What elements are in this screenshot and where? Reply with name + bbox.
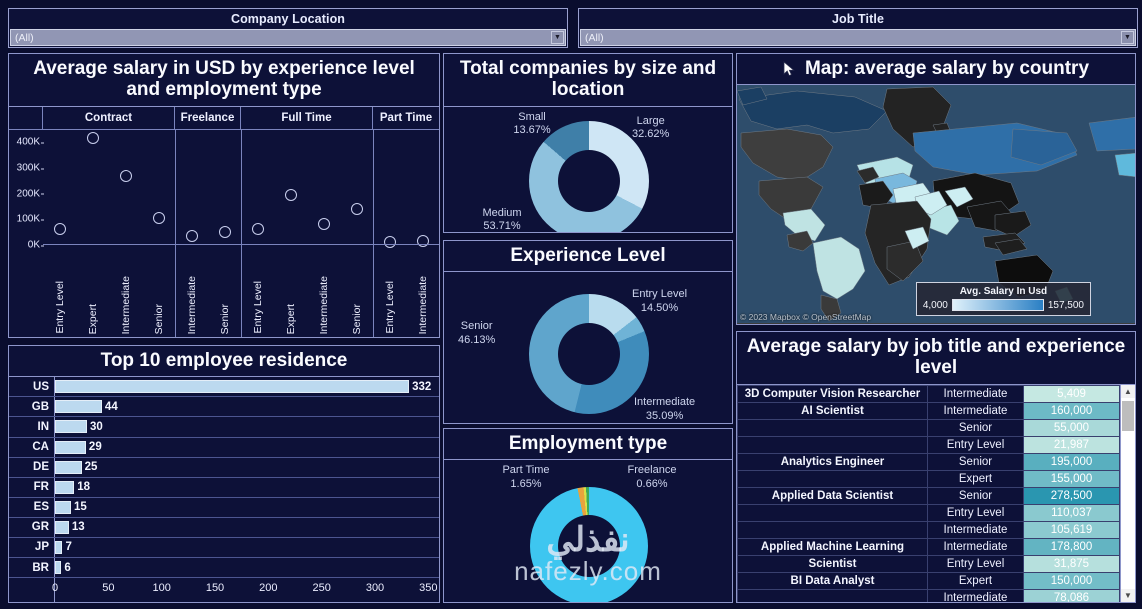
- scatter-xlabel: Entry Level: [54, 281, 66, 334]
- bar-track: 29: [55, 438, 439, 457]
- donut-label-group: Large32.62%: [632, 115, 669, 143]
- bar-xtick: 350: [419, 582, 437, 594]
- donut-slice-value: 13.67%: [513, 124, 550, 138]
- scrollbar-thumb[interactable]: [1122, 401, 1134, 431]
- donut-slice-label: Intermediate: [634, 396, 695, 410]
- bar-title: Top 10 employee residence: [9, 346, 439, 377]
- bar-row[interactable]: US332: [9, 377, 439, 397]
- bar-category-label: CA: [9, 438, 55, 457]
- bar-fill[interactable]: [55, 561, 61, 574]
- donut-hole: [558, 323, 620, 385]
- emp-title: Employment type: [444, 429, 732, 460]
- table-cell-experience-level: Entry Level: [928, 555, 1024, 572]
- table-cell-experience-level: Intermediate: [928, 385, 1024, 402]
- bar-track: 18: [55, 478, 439, 497]
- table-cell-salary: 55,000: [1024, 419, 1120, 436]
- scatter-ytick: 200K: [17, 188, 40, 199]
- donut-slice-label: Freelance: [628, 464, 677, 478]
- filter-company-location-dropdown[interactable]: (All) ▼: [10, 29, 566, 46]
- table-cell-experience-level: Expert: [928, 572, 1024, 589]
- bar-value-label: 18: [77, 481, 90, 493]
- scatter-label-divider: [175, 245, 176, 337]
- table-cell-experience-level: Intermediate: [928, 521, 1024, 538]
- table-row[interactable]: Entry Level21,987: [738, 436, 1120, 453]
- scatter-xlabel: Expert: [285, 304, 297, 334]
- scatter-point[interactable]: [351, 203, 363, 215]
- table-row[interactable]: Applied Data ScientistSenior278,500: [738, 487, 1120, 504]
- table-cell-experience-level: Entry Level: [928, 436, 1024, 453]
- bar-value-label: 13: [72, 521, 85, 533]
- donut-label-group: Freelance0.66%: [628, 464, 677, 492]
- bar-x-axis: 050100150200250300350: [9, 578, 439, 602]
- bar-xtick: 200: [259, 582, 277, 594]
- scatter-label-divider: [373, 245, 374, 337]
- donut-slice-value: 14.50%: [632, 302, 687, 316]
- bar-value-label: 29: [89, 441, 102, 453]
- bar-category-label: ES: [9, 498, 55, 517]
- panel-salary-table: Average salary by job title and experien…: [736, 331, 1136, 603]
- size-title: Total companies by size and location: [444, 54, 732, 107]
- bar-fill[interactable]: [55, 461, 82, 474]
- bar-fill[interactable]: [55, 521, 69, 534]
- table-cell-job-title: AI Scientist: [738, 402, 928, 419]
- donut-hole: [558, 150, 620, 212]
- scatter-point[interactable]: [153, 212, 165, 224]
- salary-table: 3D Computer Vision ResearcherIntermediat…: [737, 385, 1120, 602]
- panel-top-10-residence: Top 10 employee residence US332GB44IN30C…: [8, 345, 440, 603]
- filter-job-title-value: (All): [581, 32, 604, 44]
- donut-hole: [558, 515, 620, 577]
- bar-category-label: US: [9, 377, 55, 396]
- bar-rows: US332GB44IN30CA29DE25FR18ES15GR13JP7BR6: [9, 377, 439, 578]
- panel-avg-salary-scatter: Average salary in USD by experience leve…: [8, 53, 440, 338]
- scatter-point[interactable]: [252, 223, 264, 235]
- map-legend-max: 157,500: [1048, 300, 1084, 311]
- bar-value-label: 15: [74, 501, 87, 513]
- bar-value-label: 6: [64, 562, 70, 574]
- table-cell-salary: 178,800: [1024, 538, 1120, 555]
- table-cell-experience-level: Entry Level: [928, 504, 1024, 521]
- bar-axis-pad: [9, 578, 55, 602]
- bar-category-label: FR: [9, 478, 55, 497]
- scatter-xlabel: Senior: [153, 304, 165, 334]
- bar-row[interactable]: DE25: [9, 458, 439, 478]
- table-row[interactable]: Entry Level110,037: [738, 504, 1120, 521]
- scatter-point[interactable]: [285, 189, 297, 201]
- scatter-label-divider: [241, 245, 242, 337]
- scatter-plot[interactable]: ContractFreelanceFull TimePart Time0K100…: [9, 107, 439, 337]
- scatter-group-full-time: Full Time: [241, 107, 373, 129]
- scatter-xlabel: Senior: [219, 304, 231, 334]
- scatter-xlabel: Senior: [351, 304, 363, 334]
- scatter-x-labels: Entry LevelExpertIntermediateSeniorInter…: [43, 245, 439, 337]
- bar-fill[interactable]: [55, 501, 71, 514]
- bar-track: 7: [55, 538, 439, 557]
- donut-slice-label: Part Time: [502, 464, 549, 478]
- scatter-group-header: ContractFreelanceFull TimePart Time: [9, 107, 439, 129]
- bar-fill[interactable]: [55, 400, 102, 413]
- bar-xtick: 0: [52, 582, 58, 594]
- scatter-group-divider: [241, 130, 242, 245]
- donut-label-group: Entry Level14.50%: [632, 288, 687, 316]
- table-scrollbar[interactable]: ▲ ▼: [1120, 385, 1135, 602]
- donut-label-group: Part Time1.65%: [502, 464, 549, 492]
- table-cell-job-title: [738, 419, 928, 436]
- scatter-ytick: 400K: [17, 137, 40, 148]
- table-cell-job-title: [738, 504, 928, 521]
- table-cell-salary: 195,000: [1024, 453, 1120, 470]
- donut-slice-value: 0.66%: [628, 478, 677, 492]
- map-body[interactable]: © 2023 Mapbox © OpenStreetMap Avg. Salar…: [737, 85, 1135, 324]
- filter-company-location-title: Company Location: [9, 9, 567, 29]
- emp-body[interactable]: Part Time1.65%Freelance0.66%Full Time96.…: [444, 460, 732, 602]
- filter-job-title-dropdown[interactable]: (All) ▼: [580, 29, 1136, 46]
- bar-row[interactable]: ES15: [9, 498, 439, 518]
- bar-fill[interactable]: [55, 481, 74, 494]
- bar-track: 25: [55, 458, 439, 477]
- table-cell-salary: 278,500: [1024, 487, 1120, 504]
- table-cell-salary: 5,409: [1024, 385, 1120, 402]
- bar-fill[interactable]: [55, 441, 86, 454]
- bar-xtick: 150: [206, 582, 224, 594]
- scatter-title: Average salary in USD by experience leve…: [9, 54, 439, 107]
- table-row[interactable]: Senior55,000: [738, 419, 1120, 436]
- table-cell-experience-level: Intermediate: [928, 538, 1024, 555]
- donut-slice-label: Medium: [482, 207, 521, 221]
- bar-value-label: 25: [85, 461, 98, 473]
- bar-xtick: 100: [152, 582, 170, 594]
- scatter-point[interactable]: [186, 230, 198, 242]
- scatter-body[interactable]: ContractFreelanceFull TimePart Time0K100…: [9, 107, 439, 337]
- bar-category-label: DE: [9, 458, 55, 477]
- bar-category-label: GB: [9, 397, 55, 416]
- table-row[interactable]: Analytics EngineerSenior195,000: [738, 453, 1120, 470]
- table-title: Average salary by job title and experien…: [737, 332, 1135, 385]
- table-cell-salary: 78,086: [1024, 589, 1120, 602]
- scatter-xlabel: Intermediate: [186, 276, 198, 334]
- table-cell-experience-level: Senior: [928, 419, 1024, 436]
- scatter-group-divider: [373, 130, 374, 245]
- table-row[interactable]: BI Data AnalystExpert150,000: [738, 572, 1120, 589]
- table-cell-job-title: [738, 470, 928, 487]
- table-cell-salary: 31,875: [1024, 555, 1120, 572]
- scatter-point[interactable]: [87, 132, 99, 144]
- bar-track: 15: [55, 498, 439, 517]
- scatter-group-divider: [175, 130, 176, 245]
- donut-slice-label: Small: [513, 111, 550, 125]
- scatter-xlabel: Expert: [87, 304, 99, 334]
- map-attribution: © 2023 Mapbox © OpenStreetMap: [740, 312, 871, 322]
- table-cell-job-title: Analytics Engineer: [738, 453, 928, 470]
- table-cell-salary: 105,619: [1024, 521, 1120, 538]
- donut-slice-value: 1.65%: [502, 478, 549, 492]
- bar-xtick: 250: [312, 582, 330, 594]
- bar-row[interactable]: GB44: [9, 397, 439, 417]
- donut-slice-value: 35.09%: [634, 410, 695, 423]
- panel-companies-by-size: Total companies by size and location Lar…: [443, 53, 733, 233]
- map-canvas[interactable]: © 2023 Mapbox © OpenStreetMap Avg. Salar…: [737, 85, 1135, 324]
- scatter-point[interactable]: [120, 170, 132, 182]
- bar-value-label: 44: [105, 401, 118, 413]
- bar-row[interactable]: CA29: [9, 438, 439, 458]
- filter-bar: Company Location (All) ▼ Job Title (All)…: [8, 8, 1138, 48]
- exp-title: Experience Level: [444, 241, 732, 272]
- map-legend-min: 4,000: [923, 300, 948, 311]
- filter-company-location-value: (All): [11, 32, 34, 44]
- table-row[interactable]: ScientistEntry Level31,875: [738, 555, 1120, 572]
- table-scroll-area[interactable]: 3D Computer Vision ResearcherIntermediat…: [737, 385, 1120, 602]
- table-cell-experience-level: Intermediate: [928, 589, 1024, 602]
- table-cell-experience-level: Senior: [928, 453, 1024, 470]
- bar-track: 44: [55, 397, 439, 416]
- table-cell-salary: 110,037: [1024, 504, 1120, 521]
- scatter-point[interactable]: [219, 226, 231, 238]
- scatter-group-freelance: Freelance: [175, 107, 241, 129]
- chevron-down-icon[interactable]: ▼: [1121, 31, 1134, 44]
- donut-label-group: Intermediate35.09%: [634, 396, 695, 423]
- table-cell-job-title: [738, 436, 928, 453]
- bar-axis-line: 050100150200250300350: [55, 578, 439, 602]
- map-title: Map: average salary by country: [805, 58, 1089, 79]
- scatter-xlabel: Intermediate: [417, 276, 429, 334]
- bar-fill[interactable]: [55, 420, 87, 433]
- scroll-up-icon[interactable]: ▲: [1121, 385, 1135, 398]
- cursor-arrow-icon: [783, 61, 795, 77]
- map-legend-scale: 4,000 157,500: [923, 299, 1084, 311]
- bar-track: 332: [55, 377, 439, 396]
- bar-value-label: 7: [65, 541, 71, 553]
- map-legend-gradient: [952, 299, 1044, 311]
- table-row[interactable]: Intermediate78,086: [738, 589, 1120, 602]
- panel-experience-level: Experience Level Entry Level14.50%Interm…: [443, 240, 733, 424]
- bar-row[interactable]: JP7: [9, 538, 439, 558]
- dashboard-root: Company Location (All) ▼ Job Title (All)…: [0, 0, 1142, 609]
- table-cell-job-title: [738, 589, 928, 602]
- table-cell-experience-level: Senior: [928, 487, 1024, 504]
- donut-companies-by-size[interactable]: Large32.62%Medium53.71%Small13.67%: [444, 107, 732, 232]
- exp-body[interactable]: Entry Level14.50%Intermediate35.09%Senio…: [444, 272, 732, 423]
- scatter-point[interactable]: [318, 218, 330, 230]
- donut-slice-label: Large: [632, 115, 669, 129]
- donut-employment-type[interactable]: Part Time1.65%Freelance0.66%Full Time96.…: [444, 460, 732, 602]
- scatter-group-contract: Contract: [43, 107, 175, 129]
- table-cell-experience-level: Intermediate: [928, 402, 1024, 419]
- table-cell-salary: 21,987: [1024, 436, 1120, 453]
- scatter-point[interactable]: [54, 223, 66, 235]
- donut-slice-value: 53.71%: [482, 220, 521, 232]
- scatter-ytick: 100K: [17, 214, 40, 225]
- donut-slice-value: 32.62%: [632, 128, 669, 142]
- bar-xtick: 50: [102, 582, 114, 594]
- table-row[interactable]: Applied Machine LearningIntermediate178,…: [738, 538, 1120, 555]
- bar-fill[interactable]: [55, 541, 62, 554]
- bar-fill[interactable]: [55, 380, 409, 393]
- scatter-xlabel: Intermediate: [120, 276, 132, 334]
- bar-row[interactable]: FR18: [9, 478, 439, 498]
- bar-category-label: JP: [9, 538, 55, 557]
- scatter-xlabel: Intermediate: [318, 276, 330, 334]
- bar-body[interactable]: US332GB44IN30CA29DE25FR18ES15GR13JP7BR60…: [9, 377, 439, 602]
- table-cell-job-title: [738, 521, 928, 538]
- table-body[interactable]: 3D Computer Vision ResearcherIntermediat…: [737, 385, 1135, 602]
- filter-job-title: Job Title (All) ▼: [578, 8, 1138, 48]
- donut-label-group: Senior46.13%: [458, 320, 495, 348]
- panel-employment-type: Employment type Part Time1.65%Freelance0…: [443, 428, 733, 603]
- size-body[interactable]: Large32.62%Medium53.71%Small13.67%: [444, 107, 732, 232]
- scatter-ytick: 0K: [28, 240, 40, 251]
- donut-slice-label: Entry Level: [632, 288, 687, 302]
- filter-company-location: Company Location (All) ▼: [8, 8, 568, 48]
- table-row[interactable]: 3D Computer Vision ResearcherIntermediat…: [738, 385, 1120, 402]
- scatter-plot-area[interactable]: [43, 130, 439, 245]
- bar-chart[interactable]: US332GB44IN30CA29DE25FR18ES15GR13JP7BR60…: [9, 377, 439, 602]
- scatter-xlabel: Entry Level: [384, 281, 396, 334]
- bar-value-label: 30: [90, 421, 103, 433]
- scatter-ytick: 300K: [17, 163, 40, 174]
- table-cell-job-title: BI Data Analyst: [738, 572, 928, 589]
- chevron-down-icon[interactable]: ▼: [551, 31, 564, 44]
- map-legend-title: Avg. Salary In Usd: [923, 286, 1084, 297]
- donut-label-group: Small13.67%: [513, 111, 550, 139]
- bar-track: 6: [55, 558, 439, 577]
- bar-row[interactable]: BR6: [9, 558, 439, 578]
- donut-experience-level[interactable]: Entry Level14.50%Intermediate35.09%Senio…: [444, 272, 732, 423]
- bar-category-label: IN: [9, 417, 55, 436]
- bar-xtick: 300: [366, 582, 384, 594]
- scatter-y-axis: 0K100K200K300K400K: [9, 130, 43, 245]
- bar-row[interactable]: GR13: [9, 518, 439, 538]
- table-row[interactable]: Intermediate105,619: [738, 521, 1120, 538]
- map-legend: Avg. Salary In Usd 4,000 157,500: [916, 282, 1091, 316]
- table-cell-job-title: Applied Data Scientist: [738, 487, 928, 504]
- scroll-down-icon[interactable]: ▼: [1121, 589, 1135, 602]
- bar-track: 13: [55, 518, 439, 537]
- bar-row[interactable]: IN30: [9, 417, 439, 437]
- donut-label-group: Medium53.71%: [482, 207, 521, 232]
- table-cell-job-title: Applied Machine Learning: [738, 538, 928, 555]
- bar-category-label: BR: [9, 558, 55, 577]
- table-cell-job-title: Scientist: [738, 555, 928, 572]
- donut-slice-value: 46.13%: [458, 334, 495, 348]
- scatter-xlabel: Entry Level: [252, 281, 264, 334]
- table-cell-salary: 150,000: [1024, 572, 1120, 589]
- table-row[interactable]: AI ScientistIntermediate160,000: [738, 402, 1120, 419]
- filter-job-title-title: Job Title: [579, 9, 1137, 29]
- table-cell-experience-level: Expert: [928, 470, 1024, 487]
- table-row[interactable]: Expert155,000: [738, 470, 1120, 487]
- table-cell-job-title: 3D Computer Vision Researcher: [738, 385, 928, 402]
- scatter-axis-corner: [9, 107, 43, 129]
- scatter-group-part-time: Part Time: [373, 107, 439, 129]
- table-wrapper: 3D Computer Vision ResearcherIntermediat…: [737, 385, 1135, 602]
- bar-value-label: 332: [412, 381, 431, 393]
- map-title-row: Map: average salary by country: [737, 54, 1135, 85]
- donut-slice-label: Senior: [458, 320, 495, 334]
- table-cell-salary: 155,000: [1024, 470, 1120, 487]
- table-cell-salary: 160,000: [1024, 402, 1120, 419]
- bar-category-label: GR: [9, 518, 55, 537]
- bar-track: 30: [55, 417, 439, 436]
- panel-salary-map: Map: average salary by country: [736, 53, 1136, 325]
